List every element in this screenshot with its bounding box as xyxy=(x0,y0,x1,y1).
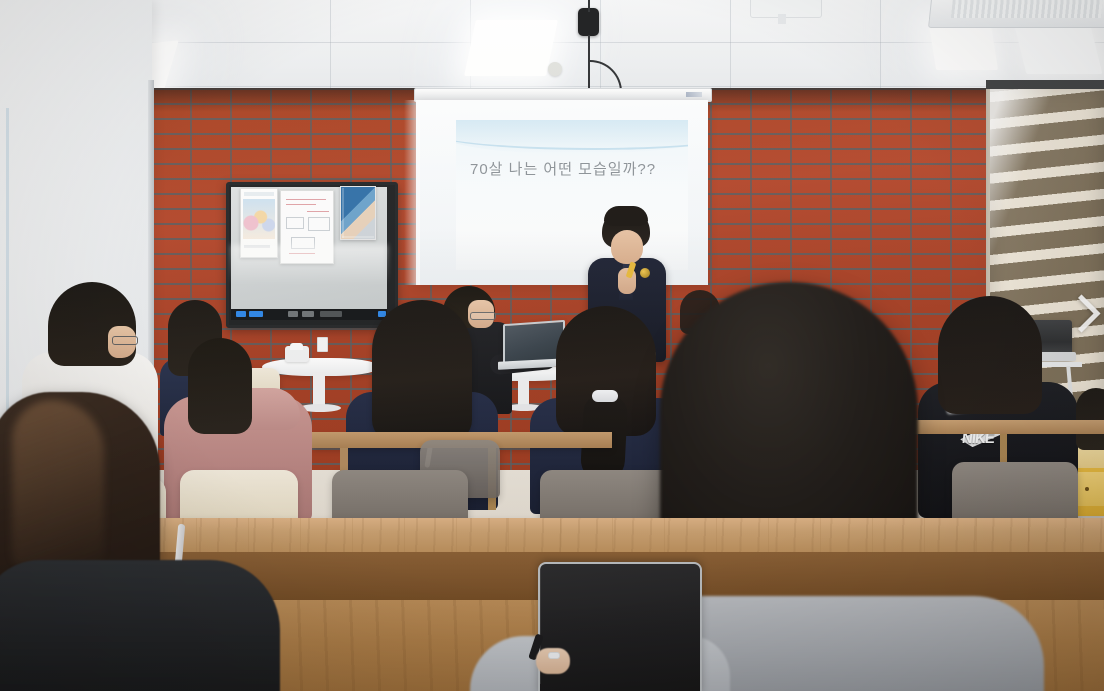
ring-icon xyxy=(548,652,560,659)
glasses-icon xyxy=(112,336,138,345)
wood-grain xyxy=(92,518,1104,552)
slide-title: 70살 나는 어떤 모습일까?? xyxy=(470,158,680,179)
classroom-photo: 70살 나는 어떤 모습일까?? xyxy=(0,0,1104,691)
student-head xyxy=(1076,388,1104,450)
table-stem xyxy=(518,378,529,406)
ceiling-light-icon xyxy=(464,20,558,76)
screen-edge-glow xyxy=(404,100,420,285)
projector-mount xyxy=(778,14,786,24)
ceiling-speaker xyxy=(578,8,599,36)
foreground-person-body xyxy=(0,560,280,691)
student-hair xyxy=(372,300,472,442)
projector xyxy=(750,0,822,18)
ceiling-light-icon xyxy=(1014,22,1103,74)
ac-vent-icon xyxy=(951,0,1103,18)
display-source-button[interactable] xyxy=(320,311,342,317)
screen-brand-logo xyxy=(686,92,702,97)
hair-highlight xyxy=(12,400,104,570)
photo-collage-poster xyxy=(340,186,376,240)
display-volume-button[interactable] xyxy=(302,311,314,317)
slide-wave-line xyxy=(456,120,688,150)
presenter-hair-front xyxy=(604,206,648,226)
student-hair xyxy=(188,338,252,434)
display-menu-button[interactable] xyxy=(288,311,298,317)
hair-tie xyxy=(592,390,618,402)
glasses-icon xyxy=(470,312,496,320)
wall-outlet[interactable] xyxy=(317,337,328,352)
tissue-sheet xyxy=(290,343,303,350)
table-stem xyxy=(313,372,325,406)
blinds-headrail[interactable] xyxy=(986,80,1104,89)
brooch-icon xyxy=(640,268,650,278)
wall-trim xyxy=(6,108,9,438)
smoke-detector-icon xyxy=(548,62,562,76)
presenter-face xyxy=(611,230,643,264)
display-power-button[interactable] xyxy=(236,311,246,317)
display-glare xyxy=(231,245,387,285)
student-hair xyxy=(938,296,1042,414)
speaker-cable xyxy=(588,0,590,12)
display-input-button[interactable] xyxy=(249,311,263,317)
shelf-knob[interactable] xyxy=(1085,487,1089,491)
